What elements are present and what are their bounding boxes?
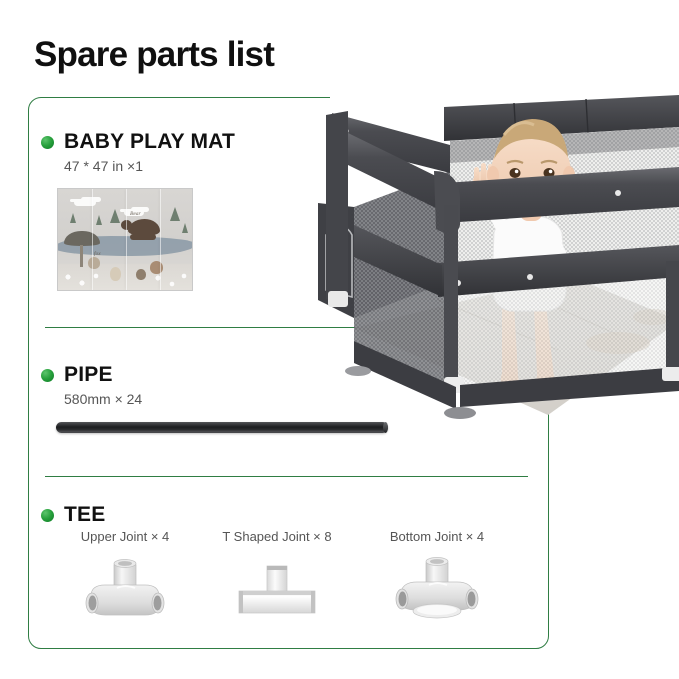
bottom-joint-icon xyxy=(357,556,517,624)
green-dot-icon xyxy=(41,136,54,149)
mat-fold xyxy=(160,189,161,290)
joint-upper: Upper Joint × 4 xyxy=(45,529,205,624)
tee-joints-row: Upper Joint × 4 xyxy=(45,529,528,639)
mat-tree xyxy=(110,209,120,223)
mat-tree xyxy=(182,223,188,233)
joint-label-bottom: Bottom Joint × 4 xyxy=(357,529,517,544)
section-title-baby-play-mat: BABY PLAY MAT xyxy=(64,130,235,154)
green-dot-icon xyxy=(41,509,54,522)
section-header: TEE xyxy=(41,503,105,527)
mat-critter xyxy=(88,257,100,269)
mat-bear xyxy=(128,219,160,236)
mat-canopy xyxy=(64,231,100,246)
joint-bottom: Bottom Joint × 4 xyxy=(357,529,517,624)
section-pipe: PIPE 580mm × 24 xyxy=(41,363,142,407)
baby-playpen-photo xyxy=(318,85,679,480)
play-mat-image: Bear fox xyxy=(57,188,193,291)
page-title: Spare parts list xyxy=(34,33,274,77)
mat-tree xyxy=(70,213,76,223)
mat-tree xyxy=(170,207,180,221)
mat-fold xyxy=(92,189,93,290)
section-title-pipe: PIPE xyxy=(64,363,113,387)
mat-dots xyxy=(62,272,188,288)
section-subtitle-baby-play-mat: 47 * 47 in ×1 xyxy=(64,158,235,174)
mat-tree xyxy=(96,215,102,225)
mat-trunk xyxy=(80,245,83,267)
section-subtitle-pipe: 580mm × 24 xyxy=(64,391,142,407)
upper-joint-icon xyxy=(45,556,205,624)
section-tee: TEE xyxy=(41,503,105,527)
section-divider-1 xyxy=(45,327,358,328)
mat-fold xyxy=(126,189,127,290)
section-baby-play-mat: BABY PLAY MAT 47 * 47 in ×1 xyxy=(41,130,235,174)
mat-bear-label: Bear xyxy=(130,211,141,217)
joint-label-upper: Upper Joint × 4 xyxy=(45,529,205,544)
joint-t-shaped: T Shaped Joint × 8 xyxy=(197,529,357,624)
section-header: PIPE xyxy=(41,363,142,387)
section-title-tee: TEE xyxy=(64,503,105,527)
section-header: BABY PLAY MAT xyxy=(41,130,235,154)
green-dot-icon xyxy=(41,369,54,382)
joint-label-t-shaped: T Shaped Joint × 8 xyxy=(197,529,357,544)
t-shaped-joint-icon xyxy=(197,556,357,624)
